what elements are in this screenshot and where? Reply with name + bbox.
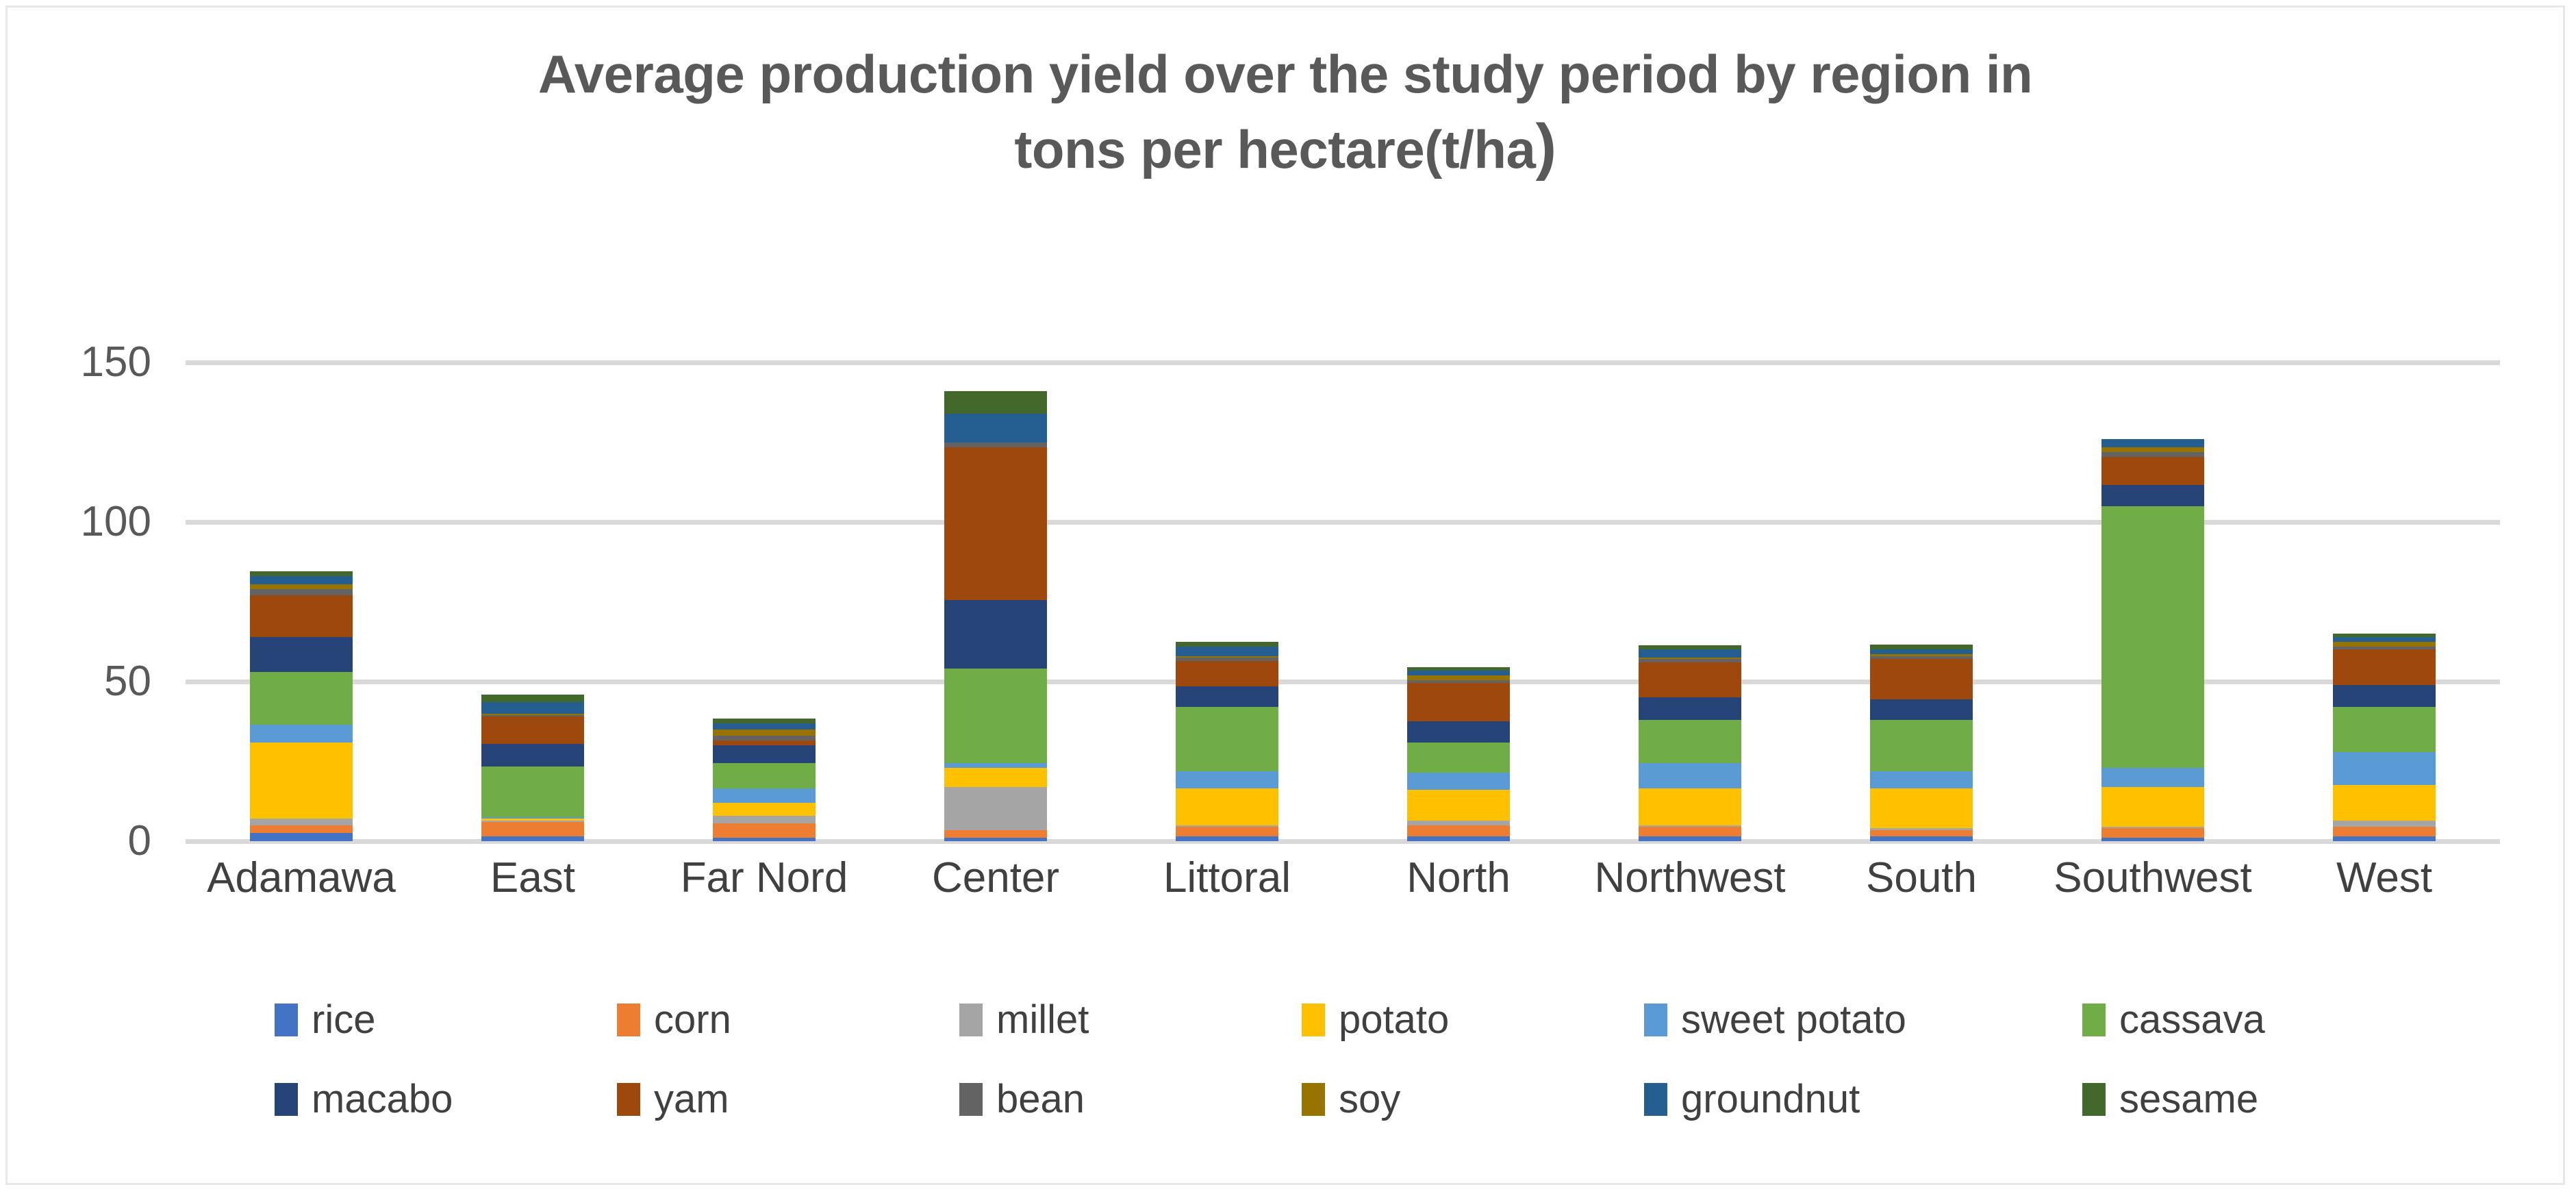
legend-swatch-icon-sweet-potato	[1644, 1004, 1667, 1036]
y-tick-label-50: 50	[1, 660, 151, 703]
bar-stack-west[interactable]	[2333, 634, 2436, 841]
bar-stack-adamawa[interactable]	[250, 571, 353, 841]
bar-segment-macabo[interactable]	[1870, 699, 1973, 720]
bar-segment-potato[interactable]	[1639, 788, 1741, 825]
bar-segment-rice[interactable]	[1407, 836, 1510, 841]
bar-segment-groundnut[interactable]	[250, 576, 353, 584]
bar-segment-potato[interactable]	[713, 803, 816, 816]
bar-stack-north[interactable]	[1407, 667, 1510, 841]
legend-item-potato[interactable]: potato	[1302, 1000, 1644, 1040]
bar-segment-corn[interactable]	[944, 830, 1047, 838]
legend-swatch-icon-bean	[959, 1083, 983, 1116]
bar-segment-corn[interactable]	[2333, 827, 2436, 836]
bar-stack-littoral[interactable]	[1176, 642, 1278, 841]
bar-segment-macabo[interactable]	[2101, 485, 2204, 506]
bar-segment-groundnut[interactable]	[2101, 439, 2204, 447]
bar-segment-corn[interactable]	[481, 822, 584, 836]
bar-segment-yam[interactable]	[481, 717, 584, 744]
bar-segment-cassava[interactable]	[2333, 707, 2436, 751]
bar-segment-groundnut[interactable]	[1176, 647, 1278, 656]
bar-segment-yam[interactable]	[250, 595, 353, 637]
bar-segment-potato[interactable]	[2333, 785, 2436, 820]
bar-stack-southwest[interactable]	[2101, 439, 2204, 841]
legend-item-bean[interactable]: bean	[959, 1080, 1302, 1119]
bar-segment-sweet-potato[interactable]	[1870, 771, 1973, 789]
x-label-northwest: Northwest	[1574, 857, 1806, 899]
bar-segment-yam[interactable]	[2101, 457, 2204, 486]
bar-segment-sesame[interactable]	[1176, 642, 1278, 647]
legend-label-yam: yam	[654, 1080, 729, 1119]
bar-segment-rice[interactable]	[2101, 838, 2204, 841]
bar-segment-yam[interactable]	[713, 740, 816, 745]
bar-segment-cassava[interactable]	[250, 672, 353, 725]
chart-frame: Average production yield over the study …	[5, 5, 2565, 1185]
bar-segment-rice[interactable]	[944, 838, 1047, 841]
legend-item-millet[interactable]: millet	[959, 1000, 1302, 1040]
y-tick-label-0: 0	[1, 820, 151, 862]
x-label-littoral: Littoral	[1111, 857, 1343, 899]
bar-slot-littoral	[1111, 362, 1343, 841]
bar-segment-sesame[interactable]	[250, 571, 353, 576]
bar-segment-potato[interactable]	[1176, 788, 1278, 825]
bar-slot-east	[417, 362, 648, 841]
bar-segment-bean[interactable]	[2101, 452, 2204, 457]
bar-segment-potato[interactable]	[1870, 788, 1973, 828]
bar-segment-sweet-potato[interactable]	[944, 763, 1047, 768]
x-label-southwest: Southwest	[2037, 857, 2269, 899]
bar-segment-macabo[interactable]	[713, 745, 816, 763]
bar-segment-sesame[interactable]	[1870, 645, 1973, 649]
bar-segment-yam[interactable]	[1407, 683, 1510, 721]
bar-segment-sesame[interactable]	[944, 391, 1047, 414]
bar-segment-sweet-potato[interactable]	[1176, 771, 1278, 789]
bar-stack-south[interactable]	[1870, 645, 1973, 841]
bar-segment-groundnut[interactable]	[2333, 637, 2436, 642]
bar-segment-groundnut[interactable]	[944, 414, 1047, 443]
bar-segment-rice[interactable]	[250, 833, 353, 841]
x-label-far-nord: Far Nord	[648, 857, 880, 899]
bar-segment-cassava[interactable]	[481, 767, 584, 818]
bar-segment-corn[interactable]	[1407, 825, 1510, 836]
bar-segment-rice[interactable]	[1176, 836, 1278, 841]
legend-swatch-icon-macabo	[275, 1083, 298, 1116]
bar-slot-south	[1806, 362, 2037, 841]
bar-segment-macabo[interactable]	[250, 637, 353, 672]
bar-segment-corn[interactable]	[1870, 830, 1973, 836]
legend-label-macabo: macabo	[312, 1080, 453, 1119]
bar-segment-cassava[interactable]	[944, 669, 1047, 762]
bar-segment-sesame[interactable]	[1639, 645, 1741, 650]
bar-segment-yam[interactable]	[1870, 659, 1973, 699]
bar-stack-northwest[interactable]	[1639, 645, 1741, 842]
y-tick-label-100: 100	[1, 501, 151, 543]
bar-segment-bean[interactable]	[713, 736, 816, 740]
bar-segment-yam[interactable]	[944, 447, 1047, 601]
bar-slot-far-nord	[648, 362, 880, 841]
legend-label-potato: potato	[1339, 1000, 1449, 1040]
legend-label-rice: rice	[312, 1000, 375, 1040]
bar-segment-groundnut[interactable]	[481, 702, 584, 713]
bar-segment-potato[interactable]	[1407, 790, 1510, 820]
legend-swatch-icon-corn	[617, 1004, 640, 1036]
bar-stack-far-nord[interactable]	[713, 719, 816, 841]
bar-segment-soy[interactable]	[713, 730, 816, 736]
legend-swatch-icon-cassava	[2082, 1004, 2106, 1036]
bar-segment-potato[interactable]	[2101, 787, 2204, 827]
x-label-east: East	[417, 857, 648, 899]
bar-segment-cassava[interactable]	[1639, 720, 1741, 763]
legend-label-millet: millet	[996, 1000, 1089, 1040]
bar-segment-groundnut[interactable]	[1639, 649, 1741, 658]
chart-legend: ricecornmilletpotatosweet potatocassavam…	[275, 995, 2322, 1124]
legend-label-soy: soy	[1339, 1080, 1400, 1119]
bar-segment-corn[interactable]	[1176, 827, 1278, 836]
bar-segment-soy[interactable]	[250, 584, 353, 589]
bar-segment-yam[interactable]	[1639, 662, 1741, 697]
legend-item-yam[interactable]: yam	[617, 1080, 959, 1119]
bar-segment-soy[interactable]	[2101, 447, 2204, 452]
bar-slot-west	[2269, 362, 2500, 841]
bar-segment-groundnut[interactable]	[1407, 671, 1510, 675]
bar-stack-east[interactable]	[481, 695, 584, 841]
bar-segment-soy[interactable]	[2333, 642, 2436, 647]
legend-label-cassava: cassava	[2119, 1000, 2265, 1040]
bar-slot-north	[1343, 362, 1574, 841]
bar-segment-rice[interactable]	[1639, 836, 1741, 841]
bar-segment-bean[interactable]	[944, 443, 1047, 447]
bar-segment-groundnut[interactable]	[713, 723, 816, 730]
bar-segment-macabo[interactable]	[1639, 697, 1741, 720]
bar-segment-groundnut[interactable]	[1870, 649, 1973, 654]
bar-segment-sweet-potato[interactable]	[1407, 773, 1510, 790]
bar-segment-cassava[interactable]	[1176, 707, 1278, 771]
legend-item-soy[interactable]: soy	[1302, 1080, 1644, 1119]
x-label-north: North	[1343, 857, 1574, 899]
bar-segment-millet[interactable]	[250, 819, 353, 825]
legend-swatch-icon-sesame	[2082, 1083, 2106, 1116]
legend-item-cassava[interactable]: cassava	[2082, 1000, 2322, 1040]
legend-label-sesame: sesame	[2119, 1080, 2258, 1119]
bar-segment-millet[interactable]	[2333, 821, 2436, 827]
bar-segment-macabo[interactable]	[944, 600, 1047, 669]
bar-segment-yam[interactable]	[2333, 649, 2436, 684]
legend-swatch-icon-groundnut	[1644, 1083, 1667, 1116]
bar-segment-rice[interactable]	[481, 836, 584, 841]
y-tick-label-150: 150	[1, 341, 151, 384]
x-label-adamawa: Adamawa	[186, 857, 417, 899]
bar-segment-rice[interactable]	[713, 838, 816, 841]
bar-segment-millet[interactable]	[944, 787, 1047, 830]
bar-series-layer	[186, 362, 2500, 841]
bar-segment-cassava[interactable]	[2101, 506, 2204, 768]
bar-slot-southwest	[2037, 362, 2269, 841]
bar-slot-adamawa	[186, 362, 417, 841]
legend-label-bean: bean	[996, 1080, 1085, 1119]
legend-label-corn: corn	[654, 1000, 731, 1040]
bar-segment-corn[interactable]	[713, 823, 816, 838]
legend-swatch-icon-potato	[1302, 1004, 1325, 1036]
bar-slot-center	[880, 362, 1111, 841]
bar-segment-cassava[interactable]	[1870, 720, 1973, 771]
legend-item-corn[interactable]: corn	[617, 1000, 959, 1040]
legend-label-sweet-potato: sweet potato	[1681, 1000, 1906, 1040]
bar-segment-macabo[interactable]	[1176, 686, 1278, 707]
x-axis-category-labels: AdamawaEastFar NordCenterLittoralNorthNo…	[186, 857, 2500, 899]
legend-swatch-icon-millet	[959, 1004, 983, 1036]
bar-segment-bean[interactable]	[250, 589, 353, 595]
legend-swatch-icon-rice	[275, 1004, 298, 1036]
bar-segment-potato[interactable]	[250, 743, 353, 819]
legend-item-macabo[interactable]: macabo	[275, 1080, 617, 1119]
bar-segment-corn[interactable]	[250, 825, 353, 834]
bar-segment-sweet-potato[interactable]	[713, 788, 816, 803]
bar-segment-sesame[interactable]	[481, 695, 584, 703]
bar-segment-potato[interactable]	[944, 768, 1047, 787]
bar-segment-millet[interactable]	[1407, 821, 1510, 825]
bar-segment-macabo[interactable]	[2333, 685, 2436, 708]
legend-item-sweet-potato[interactable]: sweet potato	[1644, 1000, 2082, 1040]
legend-item-rice[interactable]: rice	[275, 1000, 617, 1040]
bar-segment-corn[interactable]	[2101, 828, 2204, 838]
legend-label-groundnut: groundnut	[1681, 1080, 1860, 1119]
bar-segment-sesame[interactable]	[713, 719, 816, 723]
bar-segment-corn[interactable]	[1639, 827, 1741, 836]
bar-segment-cassava[interactable]	[713, 763, 816, 788]
bar-segment-sweet-potato[interactable]	[2101, 768, 2204, 787]
bar-segment-sweet-potato[interactable]	[1639, 763, 1741, 788]
legend-swatch-icon-yam	[617, 1083, 640, 1116]
bar-segment-rice[interactable]	[2333, 836, 2436, 841]
bar-segment-sweet-potato[interactable]	[250, 725, 353, 743]
bar-segment-macabo[interactable]	[481, 744, 584, 767]
x-label-west: West	[2269, 857, 2500, 899]
legend-item-groundnut[interactable]: groundnut	[1644, 1080, 2082, 1119]
bar-segment-sweet-potato[interactable]	[2333, 752, 2436, 786]
bar-segment-millet[interactable]	[713, 816, 816, 824]
bar-segment-rice[interactable]	[1870, 836, 1973, 841]
bar-segment-soy[interactable]	[1407, 675, 1510, 680]
legend-item-sesame[interactable]: sesame	[2082, 1080, 2322, 1119]
bar-segment-macabo[interactable]	[1407, 721, 1510, 742]
bar-stack-center[interactable]	[944, 391, 1047, 841]
bar-segment-yam[interactable]	[1176, 661, 1278, 686]
x-label-center: Center	[880, 857, 1111, 899]
bar-slot-northwest	[1574, 362, 1806, 841]
bar-segment-cassava[interactable]	[1407, 743, 1510, 773]
legend-swatch-icon-soy	[1302, 1083, 1325, 1116]
x-label-south: South	[1806, 857, 2037, 899]
